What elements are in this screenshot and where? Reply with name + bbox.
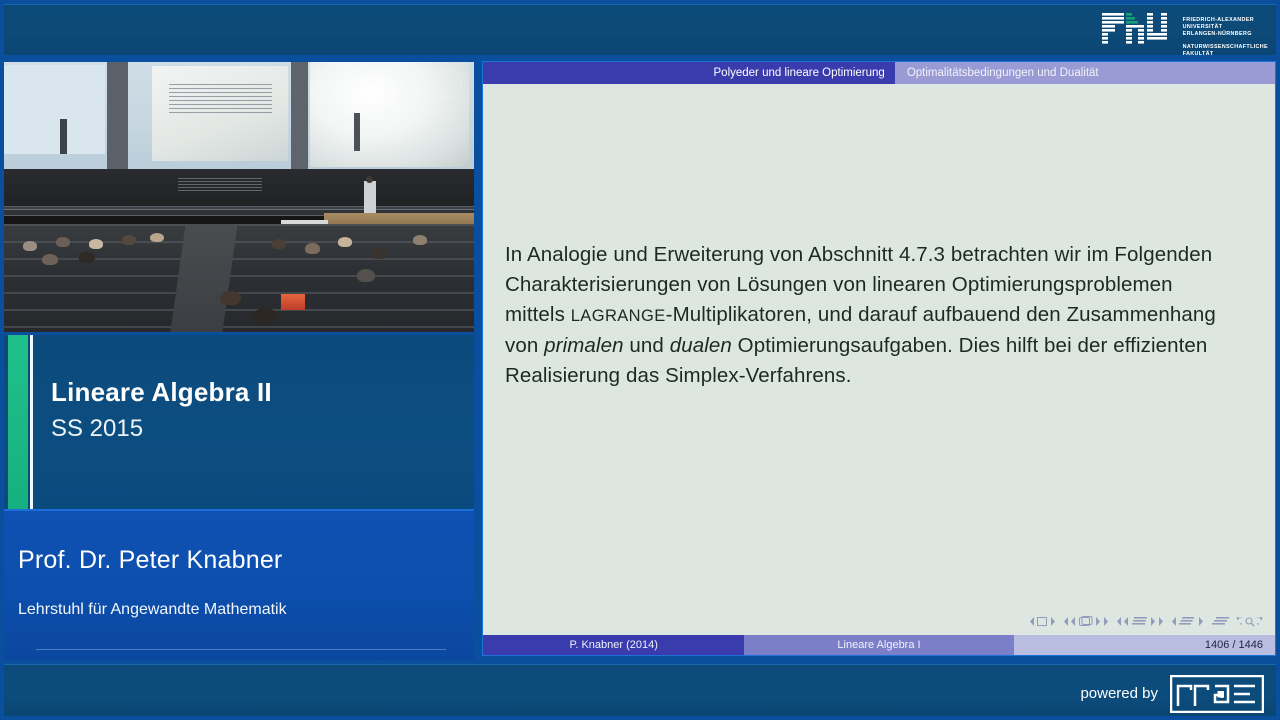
tab-optimalitaetsbedingungen-und-dualitaet[interactable]: Optimalitätsbedingungen und Dualität (895, 62, 1275, 84)
slide-footer-page-number: 1406 / 1446 (1014, 635, 1275, 655)
accent-bar-green (8, 335, 28, 509)
video-pane[interactable] (0, 58, 480, 335)
fau-wordmark-text: FRIEDRICH-ALEXANDER UNIVERSITÄT ERLANGEN… (1183, 11, 1268, 58)
powered-by-label: powered by (1080, 685, 1158, 702)
slide-pane: Polyeder und lineare Optimierung Optimal… (478, 58, 1280, 660)
next-doc-icon[interactable] (1198, 617, 1203, 626)
next-subsection-icon[interactable] (1095, 617, 1100, 626)
search-icon[interactable] (1245, 617, 1255, 627)
slide-footer-author: P. Knabner (2014) (483, 635, 744, 655)
fau-faculty-line-1: NATURWISSENSCHAFTLICHE (1183, 44, 1268, 51)
nav-group-subsection[interactable] (1064, 616, 1108, 627)
prev-subsection-icon[interactable] (1071, 617, 1076, 626)
tab-polyeder-und-lineare-optimierung[interactable]: Polyeder und lineare Optimierung (483, 62, 895, 84)
document-icon[interactable] (1179, 616, 1195, 627)
first-section-icon[interactable] (1117, 617, 1122, 626)
presenter-name: Prof. Dr. Peter Knabner (18, 546, 282, 575)
nav-group-section[interactable] (1117, 616, 1163, 627)
last-section-icon[interactable] (1158, 617, 1163, 626)
course-title-inner: Lineare Algebra II SS 2015 (4, 335, 474, 509)
prev-section-icon[interactable] (1124, 617, 1129, 626)
fau-logo: FRIEDRICH-ALEXANDER UNIVERSITÄT ERLANGEN… (1102, 11, 1268, 58)
fau-university-line-3: ERLANGEN-NÜRNBERG (1183, 31, 1268, 38)
red-object (281, 294, 305, 310)
presenter-divider (36, 649, 446, 650)
slide-text-primalen: primalen (544, 334, 623, 357)
section-icon[interactable] (1132, 616, 1148, 627)
lecture-hall-video[interactable] (4, 62, 474, 332)
presenter-inner: Prof. Dr. Peter Knabner Lehrstuhl für An… (4, 509, 474, 660)
nav-group-frame[interactable] (1030, 617, 1055, 626)
nav-group-doc[interactable] (1172, 616, 1203, 627)
slide-text-lagrange: LAGRANGE (571, 307, 666, 325)
presenter-chair: Lehrstuhl für Angewandte Mathematik (18, 601, 287, 619)
first-subsection-icon[interactable] (1064, 617, 1069, 626)
projection-screen-left (4, 65, 105, 154)
back-icon[interactable] (1232, 617, 1242, 627)
slide-text-part-3: und (624, 334, 670, 357)
next-section-icon[interactable] (1150, 617, 1155, 626)
prev-doc-icon[interactable] (1172, 617, 1177, 626)
presenter-block: Prof. Dr. Peter Knabner Lehrstuhl für An… (0, 509, 480, 660)
top-header-bar: FRIEDRICH-ALEXANDER UNIVERSITÄT ERLANGEN… (0, 0, 1280, 58)
subsection-icon[interactable] (1079, 616, 1093, 627)
beamer-navigation-bar[interactable] (1030, 616, 1268, 627)
footer-inner: powered by (4, 664, 1276, 716)
projected-slide-text (169, 84, 272, 116)
audience-members (4, 224, 474, 332)
next-frame-icon[interactable] (1050, 617, 1055, 626)
last-subsection-icon[interactable] (1103, 617, 1108, 626)
fau-faculty-line-2: FAKULTÄT (1183, 51, 1268, 58)
prev-frame-icon[interactable] (1030, 617, 1035, 626)
lecturer-figure (364, 181, 376, 213)
course-title-block: Lineare Algebra II SS 2015 (0, 335, 480, 509)
slide-tab-bar: Polyeder und lineare Optimierung Optimal… (483, 62, 1275, 84)
slide-footer-course: Lineare Algebra I (744, 635, 1013, 655)
slide-footer-bar: P. Knabner (2014) Lineare Algebra I 1406… (483, 635, 1275, 655)
wall-fixture-left (60, 119, 66, 154)
course-term: SS 2015 (51, 415, 143, 443)
slide: Polyeder und lineare Optimierung Optimal… (482, 61, 1276, 656)
hall-pillar-left (107, 62, 128, 173)
hall-pillar-right (291, 62, 308, 173)
course-title: Lineare Algebra II (51, 377, 272, 408)
blackboard-writing (178, 178, 263, 192)
bottom-footer-bar: powered by (0, 660, 1280, 720)
slide-paragraph: In Analogie und Erweiterung von Abschnit… (505, 240, 1225, 391)
fau-logo-mark (1102, 11, 1174, 45)
frame-icon[interactable] (1037, 617, 1047, 626)
nav-group-tools[interactable] (1212, 616, 1268, 627)
slide-body: In Analogie und Erweiterung von Abschnit… (483, 84, 1275, 633)
wall-fixture-right (354, 113, 360, 151)
header-inner: FRIEDRICH-ALEXANDER UNIVERSITÄT ERLANGEN… (4, 4, 1276, 55)
lecture-player: FRIEDRICH-ALEXANDER UNIVERSITÄT ERLANGEN… (0, 0, 1280, 720)
slide-text-dualen: dualen (670, 334, 732, 357)
forward-icon[interactable] (1257, 617, 1267, 627)
toc-icon[interactable] (1212, 616, 1230, 627)
rrze-logo (1170, 675, 1264, 713)
accent-rule-white (30, 335, 33, 509)
